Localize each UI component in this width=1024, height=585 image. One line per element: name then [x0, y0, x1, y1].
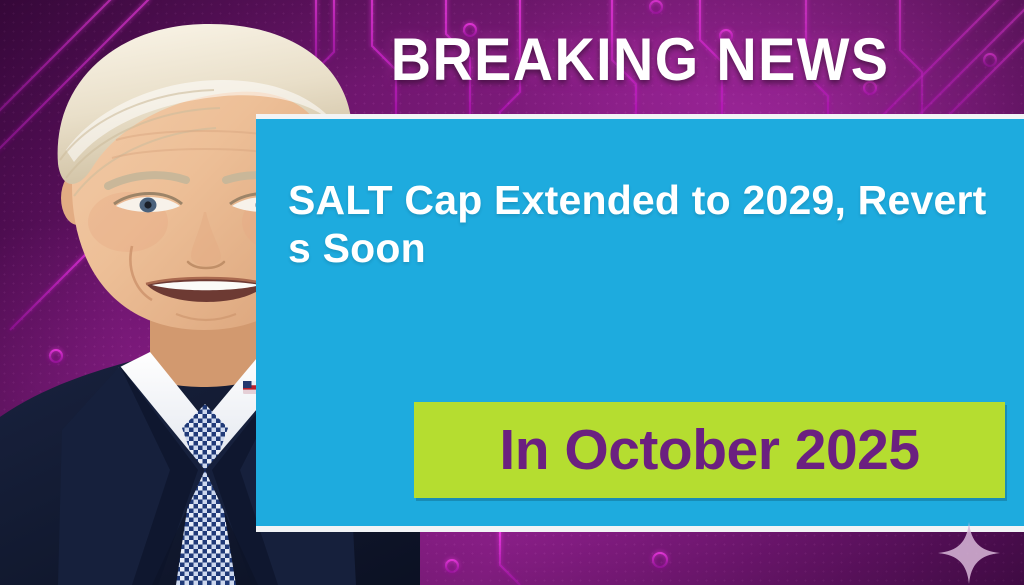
headline-panel: SALT Cap Extended to 2029, Reverts Soon … — [256, 119, 1024, 526]
divider-bottom — [256, 526, 1024, 532]
breaking-news-band: BREAKING NEWS — [256, 0, 1024, 118]
breaking-news-kicker: BREAKING NEWS — [391, 25, 890, 94]
sparkle-icon — [938, 522, 1000, 584]
date-highlight-banner: In October 2025 — [414, 402, 1005, 498]
breaking-news-banner: BREAKING NEWS SALT Cap Extended to 2029,… — [0, 0, 1024, 585]
date-highlight-text: In October 2025 — [499, 417, 919, 483]
headline-text: SALT Cap Extended to 2029, Reverts Soon — [288, 176, 1004, 273]
